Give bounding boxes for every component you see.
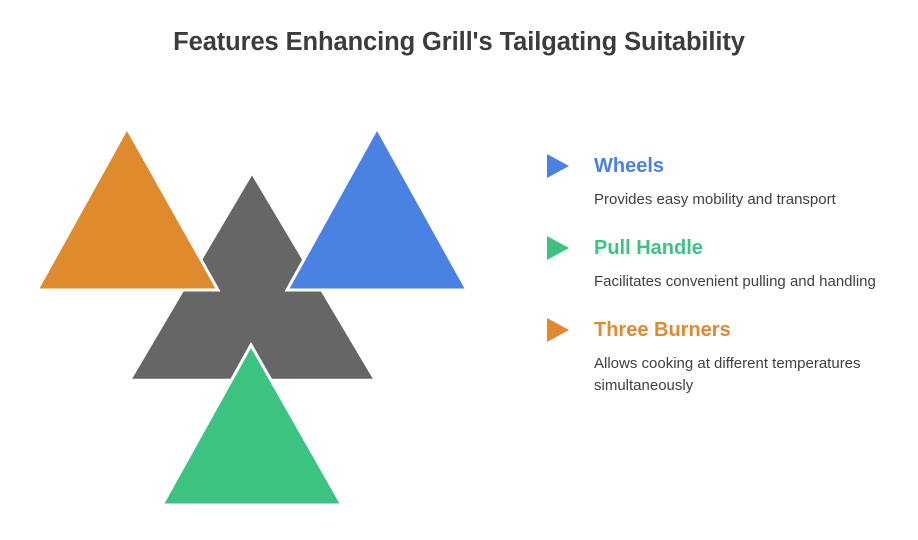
legend-item-three-burners[interactable]: Three Burners Allows cooking at differen…	[546, 316, 896, 397]
top-right-blue-triangle	[287, 128, 467, 290]
legend-title-pull-handle: Pull Handle	[594, 236, 703, 260]
legend-head: Three Burners	[546, 316, 896, 344]
legend-description-pull-handle: Facilitates convenient pulling and handl…	[594, 271, 894, 293]
legend-title-wheels: Wheels	[594, 154, 664, 178]
triangle-right-icon	[546, 317, 570, 343]
infographic-root: Features Enhancing Grill's Tailgating Su…	[0, 0, 918, 540]
triangle-right-icon	[546, 153, 570, 179]
page-title: Features Enhancing Grill's Tailgating Su…	[0, 26, 918, 58]
triangle-right-icon	[546, 235, 570, 261]
legend-item-wheels[interactable]: Wheels Provides easy mobility and transp…	[546, 152, 896, 211]
legend-head: Wheels	[546, 152, 896, 180]
legend-description-three-burners: Allows cooking at different temperatures…	[594, 353, 894, 397]
legend-title-three-burners: Three Burners	[594, 318, 731, 342]
legend-description-wheels: Provides easy mobility and transport	[594, 189, 894, 211]
legend-head: Pull Handle	[546, 234, 896, 262]
overlapping-triangles-diagram	[0, 100, 520, 530]
legend-item-pull-handle[interactable]: Pull Handle Facilitates convenient pulli…	[546, 234, 896, 293]
features-legend: Wheels Provides easy mobility and transp…	[546, 152, 896, 397]
top-left-orange-triangle	[37, 128, 218, 290]
